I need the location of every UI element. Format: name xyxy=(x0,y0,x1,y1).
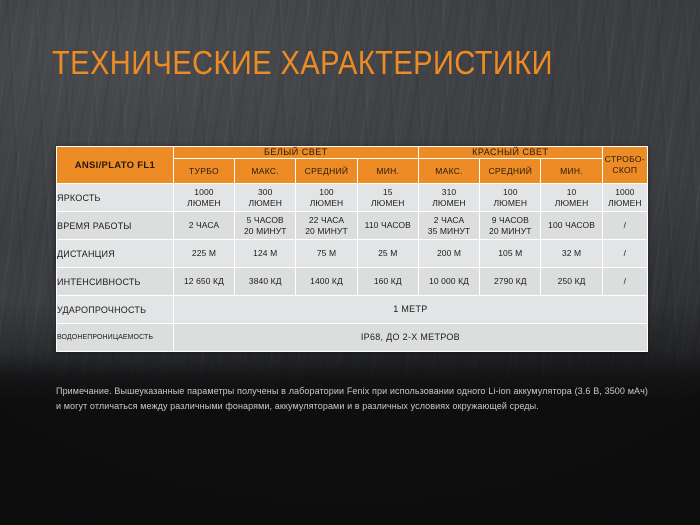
footnote-text: Примечание. Вышеуказанные параметры полу… xyxy=(56,384,648,413)
row-label: УДАРОПРОЧНОСТЬ xyxy=(57,296,174,324)
cell-r4-c5: 10 000 КД xyxy=(418,268,479,296)
row-label: ВРЕМЯ РАБОТЫ xyxy=(57,212,174,240)
subheader-5: МАКС. xyxy=(418,159,479,184)
cell-r2-c7: 100 ЧАСОВ xyxy=(541,212,602,240)
cell-r2-c4: 110 ЧАСОВ xyxy=(357,212,418,240)
cell-r1-c1: 1000 ЛЮМЕН xyxy=(173,184,234,212)
merged-value: IP68, ДО 2-Х МЕТРОВ xyxy=(173,324,647,352)
cell-r4-c3: 1400 КД xyxy=(296,268,357,296)
cell-r2-c6: 9 ЧАСОВ 20 МИНУТ xyxy=(480,212,541,240)
cell-r3-c3: 75 М xyxy=(296,240,357,268)
subheader-6: СРЕДНИЙ xyxy=(480,159,541,184)
cell-r3-c8: / xyxy=(602,240,647,268)
cell-r2-c3: 22 ЧАСА 20 МИНУТ xyxy=(296,212,357,240)
cell-r3-c7: 32 М xyxy=(541,240,602,268)
cell-r4-c6: 2790 КД xyxy=(480,268,541,296)
group-header-2: КРАСНЫЙ СВЕТ xyxy=(418,147,602,159)
subheader-3: СРЕДНИЙ xyxy=(296,159,357,184)
table-header-groups-row: ANSI/PLATO FL1БЕЛЫЙ СВЕТКРАСНЫЙ СВЕТСТРО… xyxy=(57,147,648,159)
cell-r3-c2: 124 М xyxy=(235,240,296,268)
row-label: ДИСТАНЦИЯ xyxy=(57,240,174,268)
cell-r3-c5: 200 М xyxy=(418,240,479,268)
row-label: ВОДОНЕПРОНИЦАЕМОСТЬ xyxy=(57,324,174,352)
cell-r2-c5: 2 ЧАСА 35 МИНУТ xyxy=(418,212,479,240)
cell-r4-c8: / xyxy=(602,268,647,296)
table-row: ИНТЕНСИВНОСТЬ12 650 КД3840 КД1400 КД160 … xyxy=(57,268,648,296)
cell-r2-c2: 5 ЧАСОВ 20 МИНУТ xyxy=(235,212,296,240)
slide-root: ТЕХНИЧЕСКИЕ ХАРАКТЕРИСТИКИ ANSI/PLATO FL… xyxy=(0,0,700,525)
row-label: ЯРКОСТЬ xyxy=(57,184,174,212)
page-title: ТЕХНИЧЕСКИЕ ХАРАКТЕРИСТИКИ xyxy=(52,44,553,82)
table-corner-label: ANSI/PLATO FL1 xyxy=(57,147,174,184)
cell-r1-c2: 300 ЛЮМЕН xyxy=(235,184,296,212)
table-row: ДИСТАНЦИЯ225 М124 М75 М25 М200 М105 М32 … xyxy=(57,240,648,268)
cell-r1-c3: 100 ЛЮМЕН xyxy=(296,184,357,212)
cell-r1-c8: 1000 ЛЮМЕН xyxy=(602,184,647,212)
group-header-1: БЕЛЫЙ СВЕТ xyxy=(173,147,418,159)
subheader-4: МИН. xyxy=(357,159,418,184)
table-row: ЯРКОСТЬ1000 ЛЮМЕН300 ЛЮМЕН100 ЛЮМЕН15 ЛЮ… xyxy=(57,184,648,212)
cell-r2-c8: / xyxy=(602,212,647,240)
strobe-header: СТРОБО- СКОП xyxy=(602,147,647,184)
merged-value: 1 МЕТР xyxy=(173,296,647,324)
specifications-table: ANSI/PLATO FL1БЕЛЫЙ СВЕТКРАСНЫЙ СВЕТСТРО… xyxy=(56,146,648,352)
cell-r2-c1: 2 ЧАСА xyxy=(173,212,234,240)
subheader-7: МИН. xyxy=(541,159,602,184)
cell-r1-c6: 100 ЛЮМЕН xyxy=(480,184,541,212)
table-row: ВРЕМЯ РАБОТЫ2 ЧАСА5 ЧАСОВ 20 МИНУТ22 ЧАС… xyxy=(57,212,648,240)
cell-r4-c2: 3840 КД xyxy=(235,268,296,296)
row-label: ИНТЕНСИВНОСТЬ xyxy=(57,268,174,296)
cell-r1-c4: 15 ЛЮМЕН xyxy=(357,184,418,212)
table-row-merged: УДАРОПРОЧНОСТЬ1 МЕТР xyxy=(57,296,648,324)
cell-r3-c6: 105 М xyxy=(480,240,541,268)
cell-r3-c1: 225 М xyxy=(173,240,234,268)
subheader-1: ТУРБО xyxy=(173,159,234,184)
cell-r4-c1: 12 650 КД xyxy=(173,268,234,296)
cell-r1-c5: 310 ЛЮМЕН xyxy=(418,184,479,212)
cell-r4-c4: 160 КД xyxy=(357,268,418,296)
cell-r1-c7: 10 ЛЮМЕН xyxy=(541,184,602,212)
subheader-2: МАКС. xyxy=(235,159,296,184)
cell-r4-c7: 250 КД xyxy=(541,268,602,296)
table-row-merged: ВОДОНЕПРОНИЦАЕМОСТЬIP68, ДО 2-Х МЕТРОВ xyxy=(57,324,648,352)
cell-r3-c4: 25 М xyxy=(357,240,418,268)
